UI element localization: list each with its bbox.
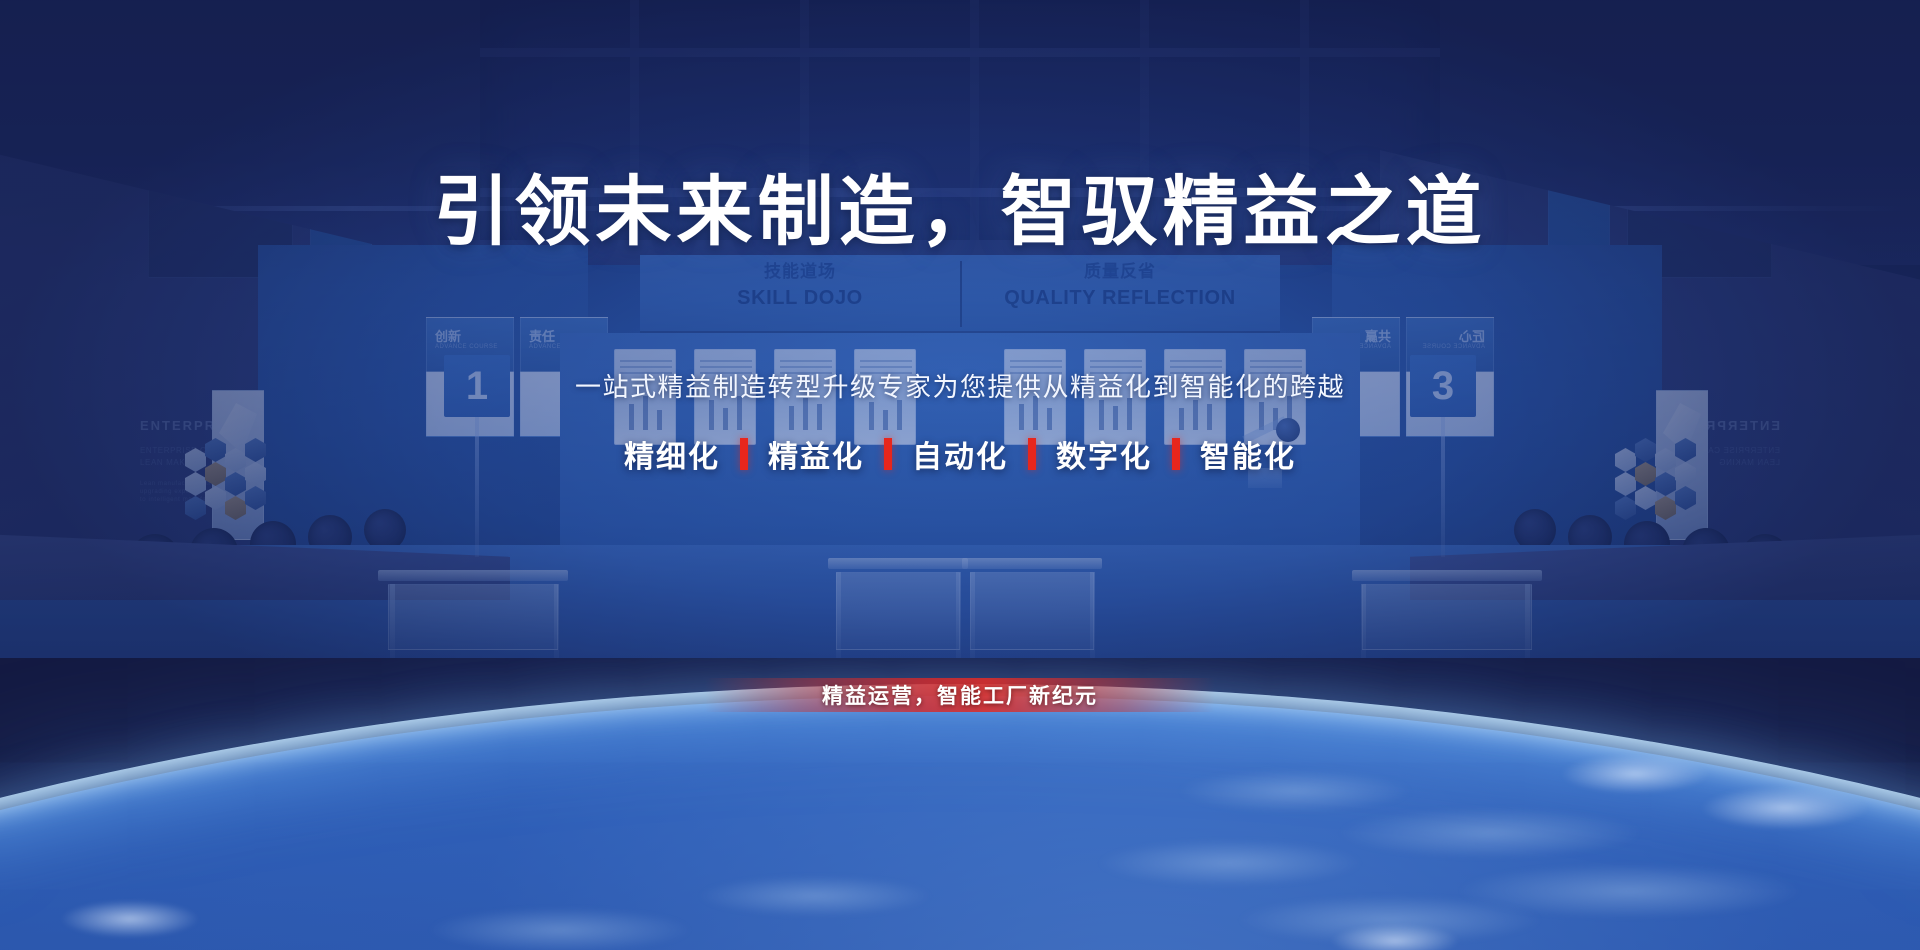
keyword-item: 精细化 (624, 432, 720, 476)
page-subtitle: 一站式精益制造转型升级专家为您提供从精益化到智能化的跨越 (0, 367, 1920, 404)
page-title: 引领未来制造，智驭精益之道 (0, 150, 1920, 260)
keyword-separator-icon (884, 438, 892, 470)
keyword-item: 精益化 (768, 432, 864, 476)
keyword-item: 智能化 (1200, 432, 1296, 476)
keyword-item: 数字化 (1056, 432, 1152, 476)
tagline-badge: 精益运营，智能工厂新纪元 (705, 678, 1215, 712)
keyword-separator-icon (740, 438, 748, 470)
tagline-text: 精益运营，智能工厂新纪元 (822, 680, 1098, 710)
keyword-separator-icon (1172, 438, 1180, 470)
keyword-separator-icon (1028, 438, 1036, 470)
keyword-list: 精细化 精益化 自动化 数字化 智能化 (0, 432, 1920, 476)
hero-banner: ENTERPRISE COURSE ENTERPRISE CASE SOURCE… (0, 0, 1920, 950)
keyword-item: 自动化 (912, 432, 1008, 476)
